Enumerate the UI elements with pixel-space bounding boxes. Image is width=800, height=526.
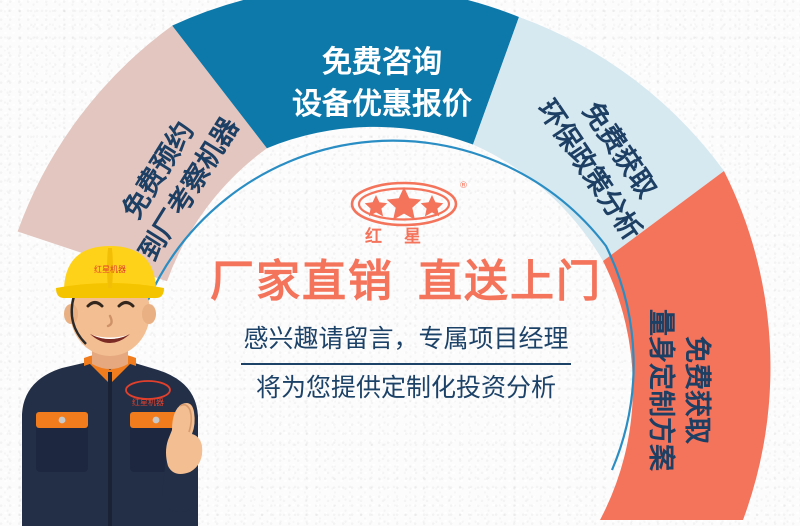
center-content: ® 红星 厂家直销直送上门 感兴趣请留言，专属项目经理 将为您提供定制化投资分析 — [196, 178, 616, 450]
worker-chest-logo-text: 红星机器 — [132, 397, 164, 407]
worker-pocket-button-left — [59, 417, 66, 424]
logo-registered-icon: ® — [459, 181, 468, 191]
poster-canvas: 免费预约 到厂考察机器 免费咨询 设备优惠报价 免费获取 环保政策分析 免费获取 — [0, 0, 800, 526]
segment-blue-line1: 免费咨询 — [322, 45, 442, 80]
segment-orange-line1: 免费获取 — [681, 336, 712, 444]
segment-orange-line2: 量身定制方案 — [645, 309, 677, 472]
hongxing-logo-icon: ® 红星 — [341, 178, 471, 250]
worker-jacket-zip — [108, 372, 112, 526]
segment-blue-line2: 设备优惠报价 — [292, 87, 472, 122]
worker-illustration: 红星机器 红星机器 — [0, 244, 220, 526]
headline-part1: 厂家直销 — [210, 256, 394, 307]
logo-star-center — [387, 187, 422, 220]
logo-wordmark: 红星 — [365, 226, 443, 247]
worker-ear-right — [142, 304, 156, 324]
subline-1: 感兴趣请留言，专属项目经理 — [196, 322, 616, 356]
headline: 厂家直销直送上门 — [196, 256, 616, 308]
subline-divider — [241, 363, 571, 365]
worker-helmet-logo-text: 红星机器 — [94, 264, 126, 274]
headline-part2: 直送上门 — [418, 256, 602, 307]
subline-2: 将为您提供定制化投资分析 — [196, 371, 616, 405]
brand-logo: ® 红星 — [196, 178, 616, 250]
worker-pocket-button-right — [153, 417, 160, 424]
smiling-worker-photo: 红星机器 红星机器 — [0, 244, 220, 526]
worker-pocket-left — [36, 424, 88, 472]
